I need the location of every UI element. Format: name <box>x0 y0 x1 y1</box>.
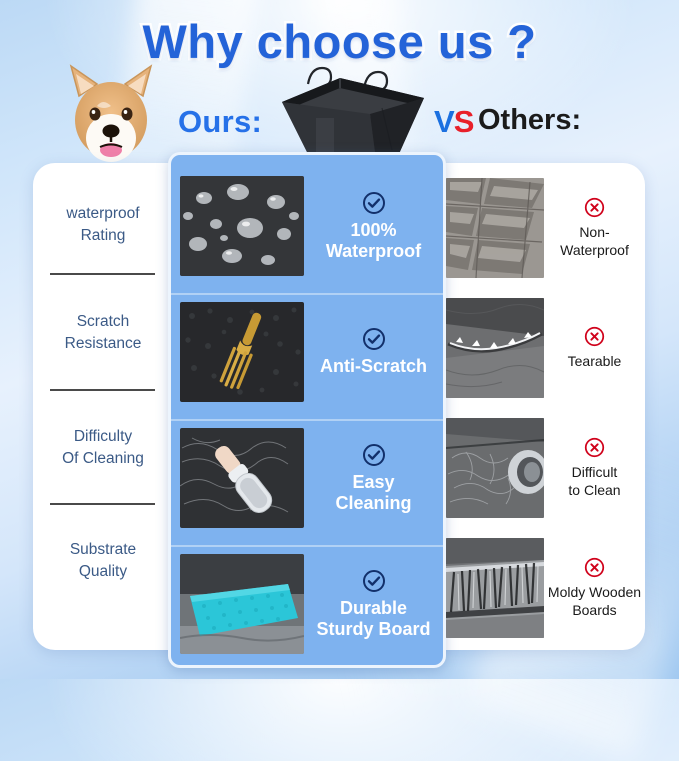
cross-circle-icon <box>584 557 605 578</box>
page-title: Why choose us ? <box>0 14 679 69</box>
others-label-difficult-to-clean: Difficult to Clean <box>568 464 620 498</box>
torn-fabric-image <box>446 298 544 398</box>
criteria-divider <box>50 389 155 391</box>
others-row-moldy-boards: Moldy Wooden Boards <box>440 533 645 643</box>
ours-feature-easy-cleaning: Easy Cleaning <box>304 443 443 513</box>
criteria-row: waterproof Rating <box>33 177 173 273</box>
others-row-non-waterproof: Non- Waterproof <box>440 173 645 283</box>
check-circle-icon <box>362 191 386 215</box>
ours-panel: 100% Waterproof <box>168 152 446 668</box>
vs-label: VS <box>434 104 473 140</box>
cross-circle-icon <box>584 197 605 218</box>
vs-v: V <box>434 104 454 139</box>
lint-brush-image <box>180 428 304 528</box>
criteria-divider <box>50 273 155 275</box>
cracked-surface-image <box>446 178 544 278</box>
criteria-label-substrate-quality: Substrate Quality <box>70 539 136 584</box>
others-label-non-waterproof: Non- Waterproof <box>560 224 629 258</box>
others-label: Others: <box>478 104 581 137</box>
check-circle-icon <box>362 327 386 351</box>
others-feature-tearable: Tearable <box>544 326 645 370</box>
ours-row-waterproof: 100% Waterproof <box>171 167 443 285</box>
ours-feature-durable-board: Durable Sturdy Board <box>304 569 443 639</box>
others-feature-moldy-boards: Moldy Wooden Boards <box>544 557 645 619</box>
check-circle-icon <box>362 443 386 467</box>
others-row-difficult-to-clean: Difficult to Clean <box>440 413 645 523</box>
cross-circle-icon <box>584 326 605 347</box>
criteria-row: Substrate Quality <box>33 511 173 611</box>
water-droplets-image <box>180 176 304 276</box>
criteria-label-waterproof-rating: waterproof Rating <box>66 203 139 248</box>
others-row-tearable: Tearable <box>440 293 645 403</box>
ours-row-anti-scratch: Anti-Scratch <box>171 293 443 411</box>
ours-label-easy-cleaning: Easy Cleaning <box>335 472 411 513</box>
fork-on-leather-image <box>180 302 304 402</box>
criteria-row: Scratch Resistance <box>33 281 173 385</box>
criteria-label-scratch-resistance: Scratch Resistance <box>65 311 142 356</box>
ours-row-easy-cleaning: Easy Cleaning <box>171 419 443 537</box>
criteria-row: Difficulty Of Cleaning <box>33 397 173 499</box>
teal-board-image <box>180 554 304 654</box>
criteria-label-difficulty-of-cleaning: Difficulty Of Cleaning <box>62 426 144 471</box>
ours-feature-waterproof: 100% Waterproof <box>304 191 443 261</box>
moldy-wooden-board-image <box>446 538 544 638</box>
ours-label-durable-board: Durable Sturdy Board <box>316 598 430 639</box>
criteria-divider <box>50 503 155 505</box>
dirty-surface-image <box>446 418 544 518</box>
others-label-moldy-boards: Moldy Wooden Boards <box>548 584 641 618</box>
corgi-dog-icon <box>57 62 165 166</box>
ours-feature-anti-scratch: Anti-Scratch <box>304 327 443 377</box>
ours-label: Ours: <box>178 104 262 140</box>
ours-label-anti-scratch: Anti-Scratch <box>320 356 427 376</box>
others-column: Non- Waterproof Tearable <box>440 163 645 650</box>
others-label-tearable: Tearable <box>568 353 622 369</box>
ours-row-durable-board: Durable Sturdy Board <box>171 545 443 663</box>
check-circle-icon <box>362 569 386 593</box>
ours-label-waterproof: 100% Waterproof <box>326 220 421 261</box>
others-feature-difficult-to-clean: Difficult to Clean <box>544 437 645 499</box>
vs-s: S <box>454 104 474 139</box>
cross-circle-icon <box>584 437 605 458</box>
others-feature-non-waterproof: Non- Waterproof <box>544 197 645 259</box>
criteria-column: waterproof Rating Scratch Resistance Dif… <box>33 163 173 650</box>
